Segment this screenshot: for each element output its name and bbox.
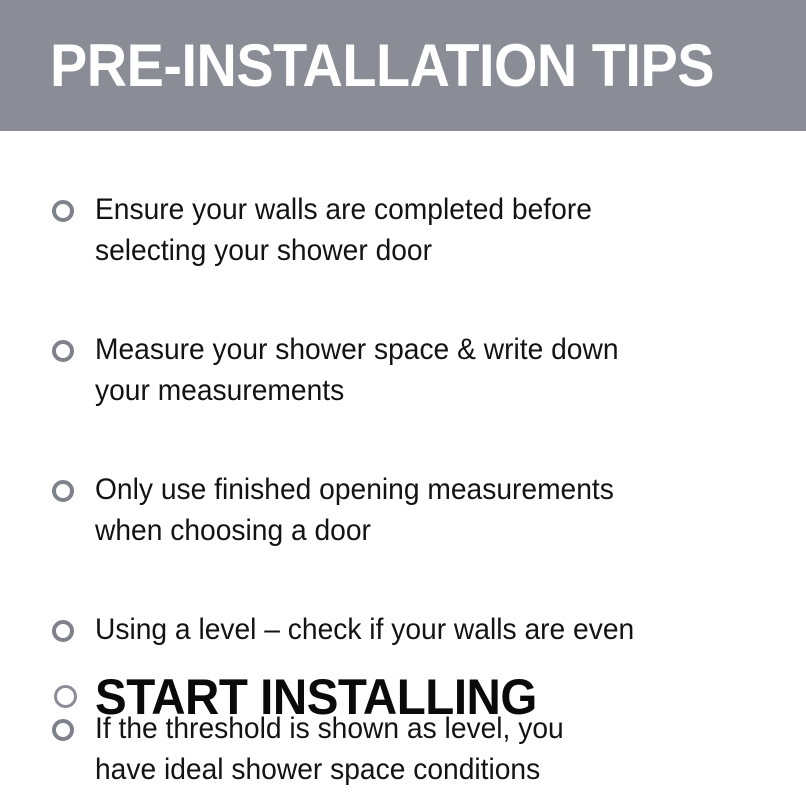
list-item-text: Ensure your walls are completed before s… (95, 189, 707, 271)
list-item: Measure your shower space & write down y… (0, 329, 806, 411)
list-item-text: Using a level – check if your walls are … (95, 609, 707, 650)
list-item: Only use finished opening measurements w… (0, 469, 806, 551)
list-item: Ensure your walls are completed before s… (0, 189, 806, 271)
list-item: Using a level – check if your walls are … (0, 609, 806, 650)
circle-outline-icon (54, 685, 77, 708)
circle-outline-icon (52, 480, 74, 502)
circle-outline-icon (52, 200, 74, 222)
circle-outline-icon (52, 340, 74, 362)
circle-outline-icon (52, 620, 74, 642)
start-installing-label: START INSTALLING (95, 668, 770, 726)
start-installing-row: START INSTALLING (0, 668, 806, 726)
page-title: PRE-INSTALLATION TIPS (50, 36, 714, 96)
pre-installation-tips-infographic: PRE-INSTALLATION TIPS Ensure your walls … (0, 0, 806, 806)
list-item-text: Only use finished opening measurements w… (95, 469, 707, 551)
list-item-text: Measure your shower space & write down y… (95, 329, 707, 411)
header-band: PRE-INSTALLATION TIPS (0, 0, 806, 131)
